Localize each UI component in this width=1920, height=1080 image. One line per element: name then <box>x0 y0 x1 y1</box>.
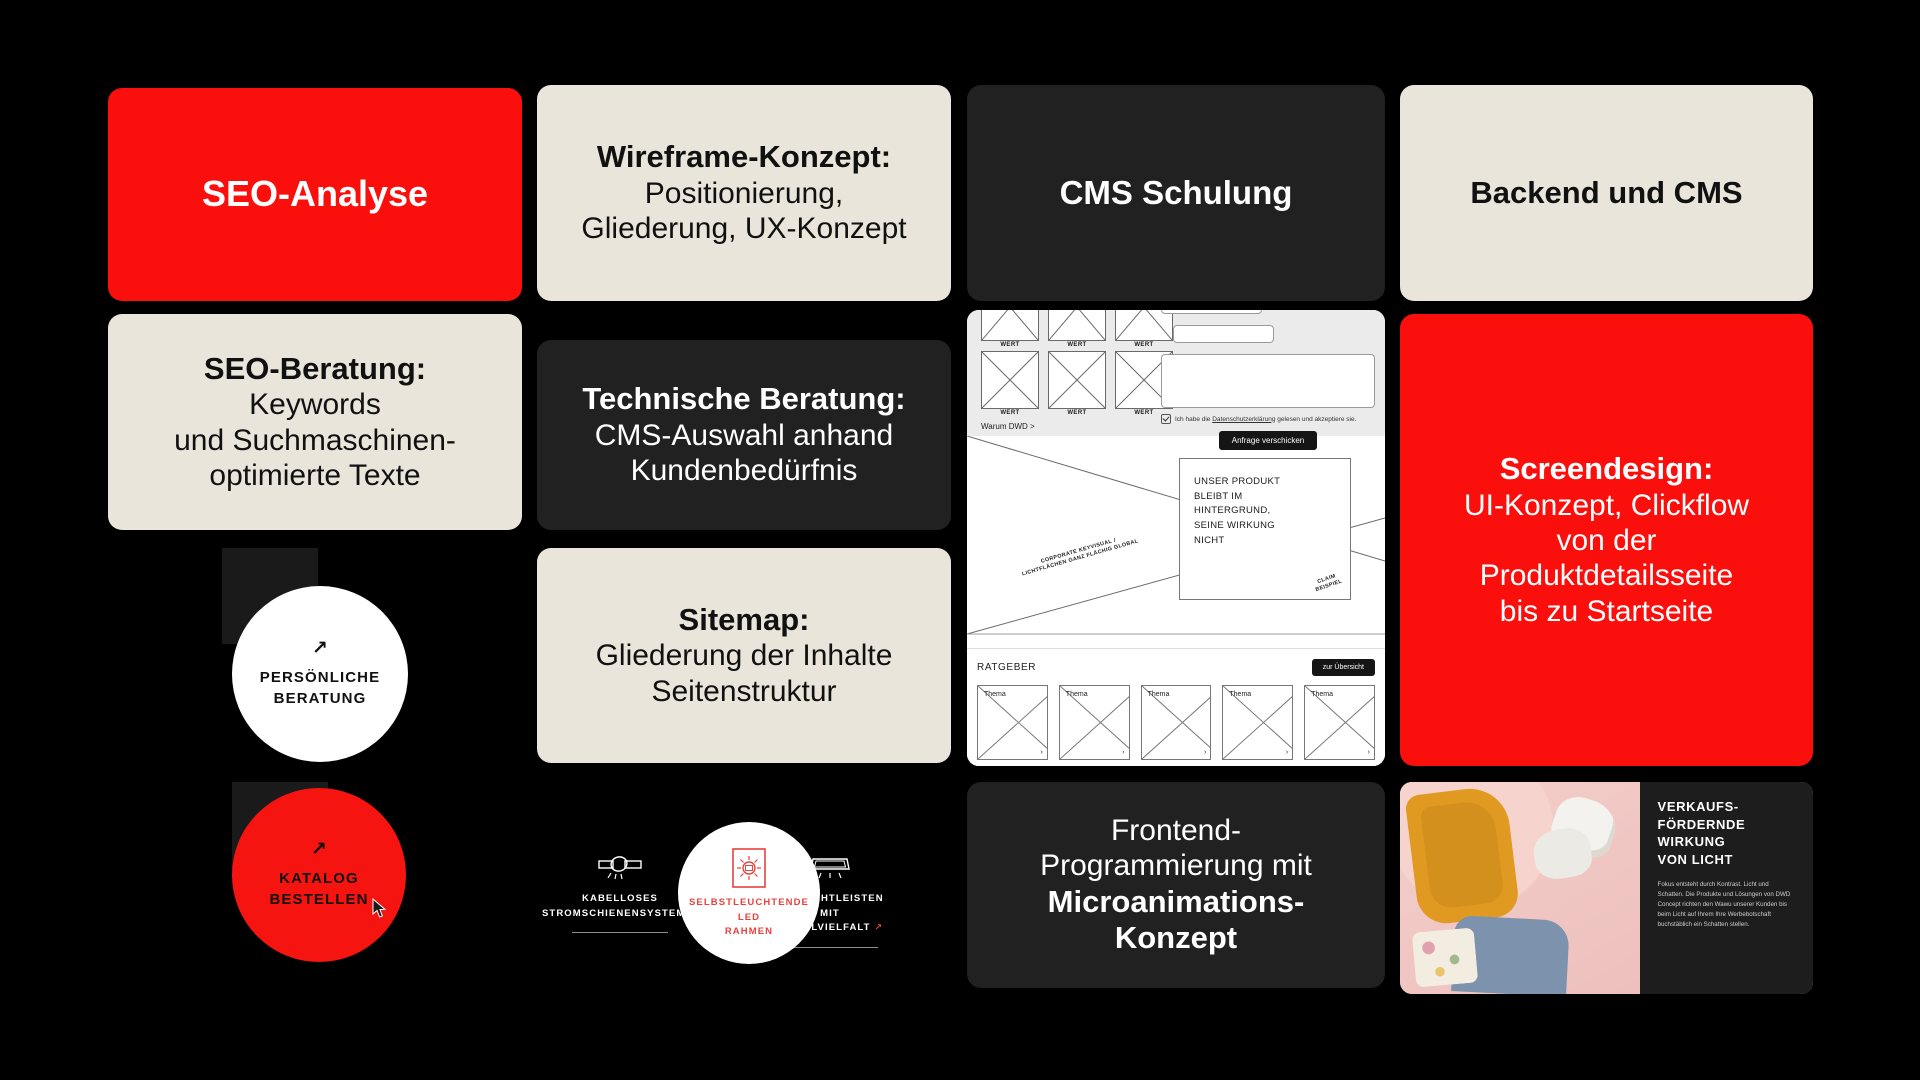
image-placeholder-icon <box>1048 310 1106 341</box>
card-title: Microanimations- Konzept <box>1040 884 1312 957</box>
tile-label: Thema <box>1311 691 1333 698</box>
card-backend-und-cms[interactable]: Backend und CMS <box>1400 85 1813 301</box>
chevron-right-icon: › <box>1040 749 1042 756</box>
chevron-right-icon: › <box>1368 749 1370 756</box>
card-sitemap[interactable]: Sitemap: Gliederung der Inhalte Seitenst… <box>537 548 951 763</box>
zur-uebersicht-button[interactable]: zur Übersicht <box>1312 659 1375 676</box>
card-title: CMS Schulung <box>1060 174 1293 213</box>
privacy-text-before: Ich habe die <box>1175 416 1212 423</box>
card-body: CMS-Auswahl anhand Kundenbedürfnis <box>582 418 905 489</box>
card-body: Positionierung, Gliederung, UX-Konzept <box>581 176 906 247</box>
claim-text: UNSER PRODUKT BLEIBT IM HINTERGRUND, SEI… <box>1180 459 1350 549</box>
card-title: Screendesign: <box>1464 451 1749 488</box>
divider <box>782 947 878 948</box>
mouse-cursor <box>372 898 387 919</box>
image-placeholder-icon <box>1048 351 1106 409</box>
card-body: Frontend- Programmierung mit <box>1040 813 1312 884</box>
form-field-first[interactable] <box>1161 310 1262 314</box>
photo-text-panel: VERKAUFS- FÖRDERNDE WIRKUNG VON LICHT Fo… <box>1640 782 1813 994</box>
ratgeber-tile[interactable]: Thema› <box>1222 685 1293 760</box>
card-frontend-programmierung[interactable]: Frontend- Programmierung mit Microanimat… <box>967 782 1385 988</box>
claim-example-box: UNSER PRODUKT BLEIBT IM HINTERGRUND, SEI… <box>1179 458 1351 600</box>
chevron-right-icon: › <box>1122 749 1124 756</box>
ratgeber-title: RATGEBER <box>977 662 1036 673</box>
ratgeber-section: RATGEBER zur Übersicht Thema› Thema› The… <box>967 648 1385 766</box>
panel-body: Fokus entsteht durch Kontrast. Licht und… <box>1658 880 1795 930</box>
wireframe-tile: WERT <box>981 310 1039 351</box>
icon-item-selbstleuchtende-led-rahmen[interactable]: SELBSTLEUCHTENDE LED RAHMEN <box>678 822 820 964</box>
card-cms-schulung[interactable]: CMS Schulung <box>967 85 1385 301</box>
panel-heading: VERKAUFS- FÖRDERNDE WIRKUNG VON LICHT <box>1658 798 1795 868</box>
wireframe-contact-form: Ich habe die Datenschutzerklärung gelese… <box>1161 310 1375 450</box>
icon-item-kabelloses-stromschienensystem[interactable]: KABELLOSES STROMSCHIENENSYSTEM↗ <box>565 840 675 933</box>
circle-label-line2: BERATUNG <box>274 689 367 709</box>
arrow-up-right-icon: ↗ <box>312 639 328 658</box>
circle-label-line1: PERSÖNLICHE <box>260 668 380 688</box>
arrow-up-right-icon: ↗ <box>875 922 884 932</box>
ratgeber-tile[interactable]: Thema› <box>1304 685 1375 760</box>
card-photo-verkaufsfoerdernde-wirkung[interactable]: VERKAUFS- FÖRDERNDE WIRKUNG VON LICHT Fo… <box>1400 782 1813 994</box>
photo-sweater <box>1404 785 1520 928</box>
card-seo-beratung[interactable]: SEO-Beratung: Keywords und Suchmaschinen… <box>108 314 522 530</box>
circle-katalog-bestellen[interactable]: ↗ KATALOG BESTELLEN <box>232 788 406 962</box>
privacy-consent-row[interactable]: Ich habe die Datenschutzerklärung gelese… <box>1161 414 1375 424</box>
chevron-right-icon: › <box>1204 749 1206 756</box>
circle-persoenliche-beratung[interactable]: ↗ PERSÖNLICHE BERATUNG <box>232 586 408 762</box>
tile-label: Thema <box>1148 691 1170 698</box>
photo-flatlay <box>1400 782 1640 994</box>
icon-caption: KABELLOSES STROMSCHIENENSYSTEM↗ <box>542 892 698 921</box>
wert-label: WERT <box>1048 342 1106 348</box>
wireframe-value-grid: WERT WERT WERT <box>981 310 1173 431</box>
card-seo-analyse[interactable]: SEO-Analyse <box>108 88 522 301</box>
card-wireframe-konzept[interactable]: Wireframe-Konzept: Positionierung, Glied… <box>537 85 951 301</box>
card-title: Sitemap: <box>596 602 893 639</box>
photo-pouch <box>1412 928 1479 988</box>
wert-label: WERT <box>1048 410 1106 416</box>
tile-label: Thema <box>984 691 1006 698</box>
ratgeber-tile[interactable]: Thema› <box>1141 685 1212 760</box>
checkbox-icon[interactable] <box>1161 414 1171 424</box>
card-screendesign[interactable]: Screendesign: UI-Konzept, Clickflow von … <box>1400 314 1813 766</box>
wert-label: WERT <box>981 342 1039 348</box>
wireframe-tile: WERT <box>1048 351 1106 419</box>
tile-label: Thema <box>1066 691 1088 698</box>
wireframe-tile: WERT <box>1048 310 1106 351</box>
circle-label-line2: BESTELLEN <box>269 890 368 910</box>
wert-label: WERT <box>981 410 1039 416</box>
card-title: SEO-Analyse <box>202 173 428 215</box>
card-title: SEO-Beratung: <box>174 351 456 388</box>
privacy-text-after: gelesen und akzeptiere sie. <box>1275 416 1356 423</box>
divider <box>572 932 668 933</box>
card-title: Backend und CMS <box>1470 175 1742 212</box>
wireframe-content: WERT WERT WERT <box>967 310 1385 766</box>
image-placeholder-icon <box>981 351 1039 409</box>
form-field-last[interactable] <box>1173 325 1274 343</box>
slide-canvas: SEO-Analyse Wireframe-Konzept: Positioni… <box>0 0 1920 1080</box>
wireframe-screenshot-card[interactable]: WERT WERT WERT <box>967 310 1385 766</box>
privacy-policy-link[interactable]: Datenschutzerklärung <box>1212 416 1275 423</box>
circle-label-line1: KATALOG <box>279 869 359 889</box>
led-frame-icon <box>731 846 767 890</box>
form-message-textarea[interactable] <box>1161 354 1375 408</box>
arrow-up-right-icon: ↗ <box>311 840 327 859</box>
warum-dwd-link[interactable]: Warum DWD > <box>981 422 1173 431</box>
wireframe-tile: WERT <box>981 351 1039 419</box>
tile-label: Thema <box>1229 691 1251 698</box>
card-technische-beratung[interactable]: Technische Beratung: CMS-Auswahl anhand … <box>537 340 951 530</box>
card-body: UI-Konzept, Clickflow von der Produktdet… <box>1464 488 1749 630</box>
card-body: Gliederung der Inhalte Seitenstruktur <box>596 638 893 709</box>
ratgeber-tile[interactable]: Thema› <box>977 685 1048 760</box>
wireframe-grid-row-2: WERT WERT WERT <box>981 351 1173 419</box>
spotlight-track-icon <box>597 840 643 892</box>
card-body: Keywords und Suchmaschinen- optimierte T… <box>174 387 456 493</box>
image-placeholder-icon <box>981 310 1039 341</box>
claim-corner-label: CLAIMBEISPIEL <box>1313 571 1344 593</box>
chevron-right-icon: › <box>1286 749 1288 756</box>
ratgeber-tile[interactable]: Thema› <box>1059 685 1130 760</box>
ratgeber-tiles: Thema› Thema› Thema› Thema› <box>977 685 1375 760</box>
wireframe-grid-row-1: WERT WERT WERT <box>981 310 1173 351</box>
icon-caption: SELBSTLEUCHTENDE LED RAHMEN <box>678 896 820 940</box>
card-title: Technische Beratung: <box>582 381 905 418</box>
card-title: Wireframe-Konzept: <box>581 139 906 176</box>
